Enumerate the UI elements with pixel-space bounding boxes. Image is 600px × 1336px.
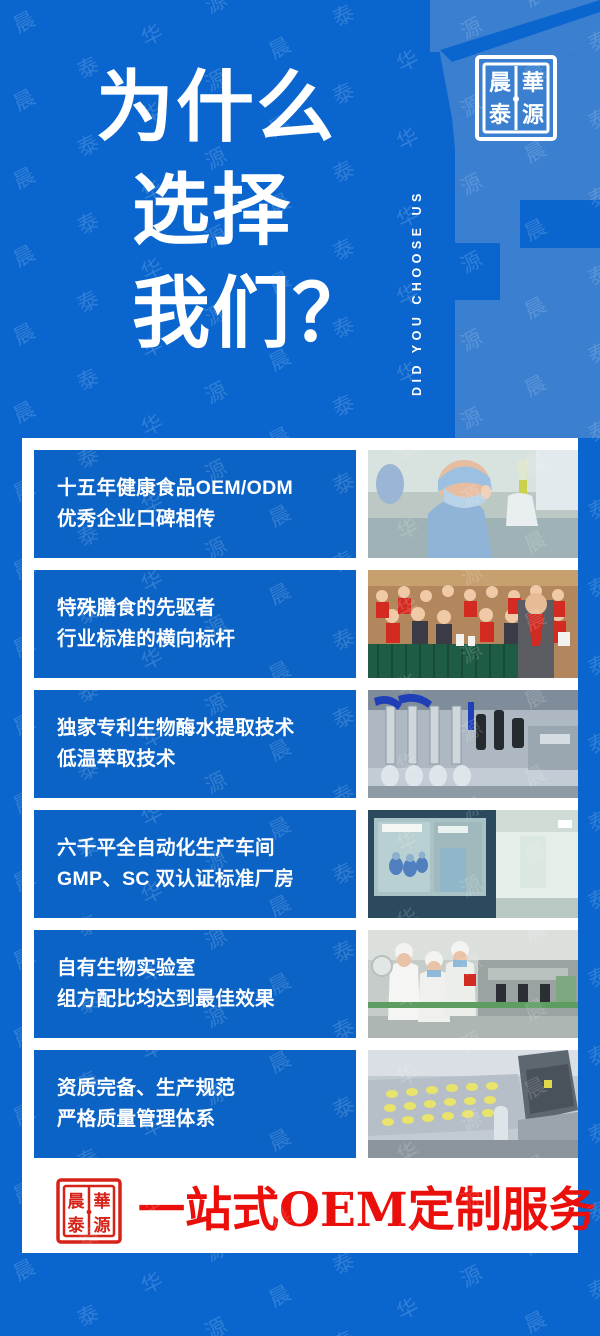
title-line-3: 我们？ <box>96 262 396 365</box>
card-text-block: 六千平全自动化生产车间 GMP、SC 双认证标准厂房 <box>34 810 356 918</box>
card-line: 独家专利生物酶水提取技术 <box>57 713 348 744</box>
poster-root: 为什么 选择 我们？ DID YOU CHOOSE US 晨 泰 華 源 <box>0 0 600 1336</box>
svg-text:源: 源 <box>522 102 544 128</box>
vertical-english-caption: DID YOU CHOOSE US <box>398 36 424 396</box>
tablet-blister-packaging-machine-photo <box>368 1050 578 1158</box>
list-item[interactable]: 十五年健康食品OEM/ODM 优秀企业口碑相传 <box>34 450 578 558</box>
card-line: 优秀企业口碑相传 <box>57 504 348 535</box>
card-text-block: 独家专利生物酶水提取技术 低温萃取技术 <box>34 690 356 798</box>
list-item[interactable]: 独家专利生物酶水提取技术 低温萃取技术 <box>34 690 578 798</box>
footer-slogan: 一站式OEM定制服务 <box>138 1187 596 1234</box>
footer-banner: 晨 泰 華 源 一站式OEM定制服务 <box>22 1168 578 1253</box>
card-line: 资质完备、生产规范 <box>57 1073 348 1104</box>
card-text-block: 资质完备、生产规范 严格质量管理体系 <box>34 1050 356 1158</box>
list-item[interactable]: 特殊膳食的先驱者 行业标准的横向标杆 <box>34 570 578 678</box>
title-line-1: 为什么 <box>96 56 396 159</box>
card-line: 行业标准的横向标杆 <box>57 624 348 655</box>
workers-inspecting-production-line-photo <box>368 930 578 1038</box>
poster-header: 为什么 选择 我们？ DID YOU CHOOSE US 晨 泰 華 源 <box>0 0 600 438</box>
svg-text:晨: 晨 <box>489 70 512 96</box>
svg-text:華: 華 <box>94 1192 111 1212</box>
svg-text:華: 華 <box>522 70 544 96</box>
company-seal-red-icon: 晨 泰 華 源 <box>54 1176 124 1246</box>
company-seal-icon: 晨 泰 華 源 <box>472 52 560 144</box>
card-text-block: 自有生物实验室 组方配比均达到最佳效果 <box>34 930 356 1038</box>
lab-technician-holding-flask-photo <box>368 450 578 558</box>
feature-card-list: 十五年健康食品OEM/ODM 优秀企业口碑相传 <box>34 450 578 1158</box>
card-line: 严格质量管理体系 <box>57 1104 348 1135</box>
card-line: 自有生物实验室 <box>57 953 348 984</box>
list-item[interactable]: 自有生物实验室 组方配比均达到最佳效果 <box>34 930 578 1038</box>
card-line: 特殊膳食的先驱者 <box>57 593 348 624</box>
page-title: 为什么 选择 我们？ <box>96 56 396 365</box>
card-line: 组方配比均达到最佳效果 <box>57 984 348 1015</box>
card-text-block: 十五年健康食品OEM/ODM 优秀企业口碑相传 <box>34 450 356 558</box>
card-text-block: 特殊膳食的先驱者 行业标准的横向标杆 <box>34 570 356 678</box>
card-line: 低温萃取技术 <box>57 744 348 775</box>
svg-text:源: 源 <box>94 1215 111 1236</box>
svg-text:泰: 泰 <box>488 102 512 128</box>
card-line: GMP、SC 双认证标准厂房 <box>57 864 348 895</box>
card-line: 六千平全自动化生产车间 <box>57 833 348 864</box>
svg-text:泰: 泰 <box>68 1215 86 1236</box>
card-line: 十五年健康食品OEM/ODM <box>57 473 348 504</box>
list-item[interactable]: 资质完备、生产规范 严格质量管理体系 <box>34 1050 578 1158</box>
list-item[interactable]: 六千平全自动化生产车间 GMP、SC 双认证标准厂房 <box>34 810 578 918</box>
title-line-2: 选择 <box>96 159 396 262</box>
liquid-filling-machine-line-photo <box>368 690 578 798</box>
conference-audience-hall-photo <box>368 570 578 678</box>
cleanroom-corridor-window-photo <box>368 810 578 918</box>
svg-text:晨: 晨 <box>68 1192 86 1212</box>
